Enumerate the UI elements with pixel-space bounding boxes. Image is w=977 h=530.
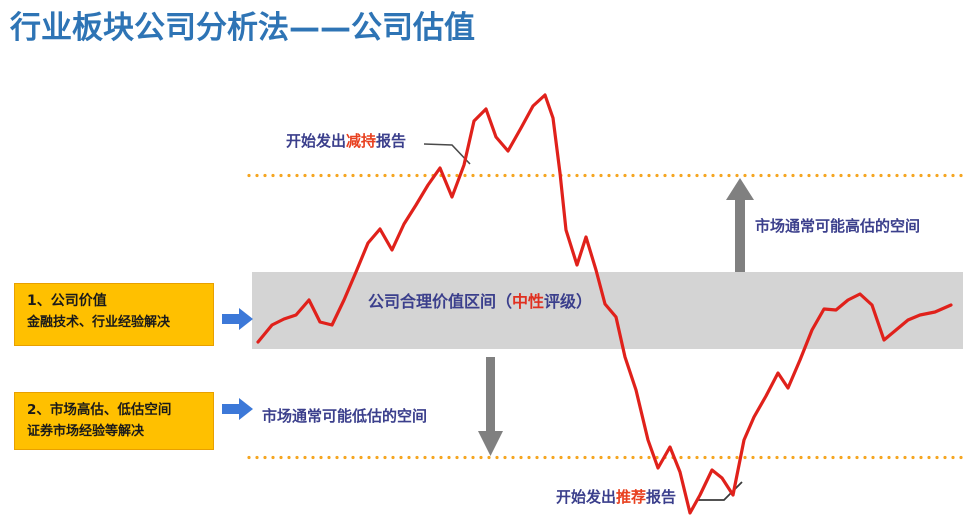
reduce-report-annotation: 开始发出减持报告 (286, 130, 406, 151)
reduce-highlight: 减持 (346, 132, 376, 150)
slide-canvas: 行业板块公司分析法——公司估值 公司合理价值区间（中性评级） (0, 0, 977, 530)
reduce-prefix: 开始发出 (286, 132, 346, 150)
overvaluation-range-arrow (726, 178, 754, 272)
arrow-right-icon (222, 306, 254, 332)
company-value-box-line1: 1、公司价值 (27, 290, 203, 312)
market-valuation-box-line1: 2、市场高估、低估空间 (27, 399, 203, 421)
recommend-highlight: 推荐 (616, 488, 646, 506)
undervaluation-range-arrow (478, 357, 503, 456)
arrow-right-icon (222, 396, 254, 422)
price-line-svg (0, 0, 977, 530)
valuation-chart: 公司合理价值区间（中性评级） 开始发出减持报告 开始发出推荐报 (0, 0, 977, 530)
market-valuation-box[interactable]: 2、市场高估、低估空间 证券市场经验等解决 (14, 392, 214, 450)
company-value-box[interactable]: 1、公司价值 金融技术、行业经验解决 (14, 283, 214, 346)
recommend-suffix: 报告 (646, 488, 676, 506)
price-line (258, 95, 951, 513)
reduce-leader-line (424, 144, 470, 164)
company-value-box-line2: 金融技术、行业经验解决 (27, 312, 203, 334)
reduce-suffix: 报告 (376, 132, 406, 150)
market-valuation-box-line2: 证券市场经验等解决 (27, 421, 203, 443)
undervalued-space-label: 市场通常可能低估的空间 (262, 405, 427, 426)
recommend-report-annotation: 开始发出推荐报告 (556, 486, 676, 507)
recommend-prefix: 开始发出 (556, 488, 616, 506)
overvalued-space-label: 市场通常可能高估的空间 (755, 215, 920, 236)
